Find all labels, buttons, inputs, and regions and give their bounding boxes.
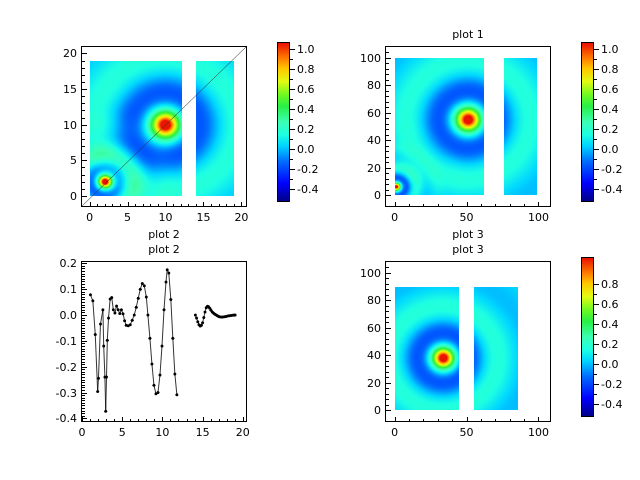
ytick-minor-bottom_right-0-4: [386, 388, 389, 389]
ytick-minor-bottom_right-4-3: [386, 284, 389, 285]
ytick-minor-bottom_right-4-2: [386, 289, 389, 290]
cbar-ticklabel-bottom_right-1: -0.2: [601, 379, 622, 390]
ytick-minor-bottom_right-3-3: [386, 311, 389, 312]
yticklabel-bottom_right-0: 0: [345, 405, 381, 416]
cbar-tick-bottom_right-5: [594, 304, 599, 305]
xtick-major-bottom_right-2: [538, 417, 539, 422]
cbar-tick-minor-bottom_right-4: [594, 314, 597, 315]
ytick-minor-bottom_right-0-1: [386, 405, 389, 406]
xtick-minor-bottom_right-0-4: [452, 419, 453, 422]
ytick-minor-bottom_right-1-4: [386, 361, 389, 362]
yticklabel-bottom_right-4: 80: [345, 295, 381, 306]
xticklabel-bottom_right-2: 100: [518, 427, 558, 438]
cbar-ticklabel-bottom_right-2: 0.0: [601, 359, 619, 370]
xtick-major-bottom_right-0: [395, 417, 396, 422]
cbar-tick-minor-bottom_right-1: [594, 374, 597, 375]
ytick-minor-bottom_right-2-1: [386, 350, 389, 351]
heatmap-canvas-bottom_right: [386, 262, 550, 421]
panel-bottom_right: 050100020406080100plot 3-0.4-0.20.00.20.…: [0, 0, 640, 480]
ytick-minor-bottom_right-0-2: [386, 399, 389, 400]
ytick-minor-bottom_right-3-1: [386, 322, 389, 323]
axes-bottom_right[interactable]: [385, 261, 551, 422]
xtick-major-bottom_right-1: [467, 417, 468, 422]
cbar-tick-bottom_right-4: [594, 324, 599, 325]
ytick-minor-bottom_right-2-3: [386, 339, 389, 340]
cbar-ticklabel-bottom_right-0: -0.4: [601, 399, 622, 410]
xticklabel-bottom_right-0: 0: [375, 427, 415, 438]
xtick-minor-bottom_right-1-1: [481, 419, 482, 422]
cbar-ticklabel-bottom_right-6: 0.8: [601, 279, 619, 290]
cbar-tick-minor-bottom_right-3: [594, 334, 597, 335]
ytick-major-bottom_right-4: [386, 300, 391, 301]
ytick-major-bottom_right-3: [386, 328, 391, 329]
cbar-ticklabel-bottom_right-5: 0.6: [601, 299, 619, 310]
ytick-minor-bottom_right-3-4: [386, 306, 389, 307]
title-bottom_right: plot 3: [385, 244, 551, 256]
yticklabel-bottom_right-2: 40: [345, 350, 381, 361]
cbar-tick-bottom_right-3: [594, 344, 599, 345]
colorbar-gradient-bottom_right: [582, 258, 593, 416]
ytick-major-bottom_right-5: [386, 273, 391, 274]
cbar-tick-bottom_right-2: [594, 364, 599, 365]
ytick-minor-bottom_right-4-1: [386, 295, 389, 296]
cbar-ticklabel-bottom_right-3: 0.2: [601, 339, 619, 350]
cbar-tick-bottom_right-0: [594, 404, 599, 405]
ytick-major-bottom_right-1: [386, 383, 391, 384]
xtick-minor-bottom_right-1-4: [524, 419, 525, 422]
yticklabel-bottom_right-3: 60: [345, 323, 381, 334]
ytick-minor-bottom_right-1-2: [386, 372, 389, 373]
ytick-major-bottom_right-0: [386, 410, 391, 411]
ytick-major-bottom_right-2: [386, 355, 391, 356]
xtick-minor-bottom_right-0-1: [409, 419, 410, 422]
ytick-minor-bottom_right-4-4: [386, 278, 389, 279]
ytick-minor-bottom_right-1-3: [386, 366, 389, 367]
xticklabel-bottom_right-1: 50: [447, 427, 487, 438]
ytick-minor-top-bottom_right-1: [386, 267, 389, 268]
figure-canvas: 0510152005101520plot 2-0.4-0.20.00.20.40…: [0, 0, 640, 480]
xtick-minor-bottom_right-1-3: [510, 419, 511, 422]
cbar-tick-minor-bottom_right-2: [594, 354, 597, 355]
cbar-tick-minor-bottom_right-5: [594, 294, 597, 295]
ytick-minor-bottom_right-0-3: [386, 394, 389, 395]
ytick-minor-bottom_right-2-4: [386, 333, 389, 334]
xtick-minor-bottom_right-1-2: [495, 419, 496, 422]
xtick-minor-bottom_right-0-3: [438, 419, 439, 422]
cbar-tick-minor-bottom_right-0: [594, 394, 597, 395]
yticklabel-bottom_right-1: 20: [345, 378, 381, 389]
cbar-ticklabel-bottom_right-4: 0.4: [601, 319, 619, 330]
ytick-minor-bottom_right-3-2: [386, 317, 389, 318]
colorbar-bottom_right[interactable]: [581, 257, 594, 417]
cbar-tick-bottom_right-6: [594, 284, 599, 285]
cbar-tick-bottom_right-1: [594, 384, 599, 385]
xtick-minor-bottom_right-0-2: [423, 419, 424, 422]
yticklabel-bottom_right-5: 100: [345, 268, 381, 279]
ytick-minor-bottom_right-2-2: [386, 344, 389, 345]
ytick-minor-bottom_right-1-1: [386, 377, 389, 378]
